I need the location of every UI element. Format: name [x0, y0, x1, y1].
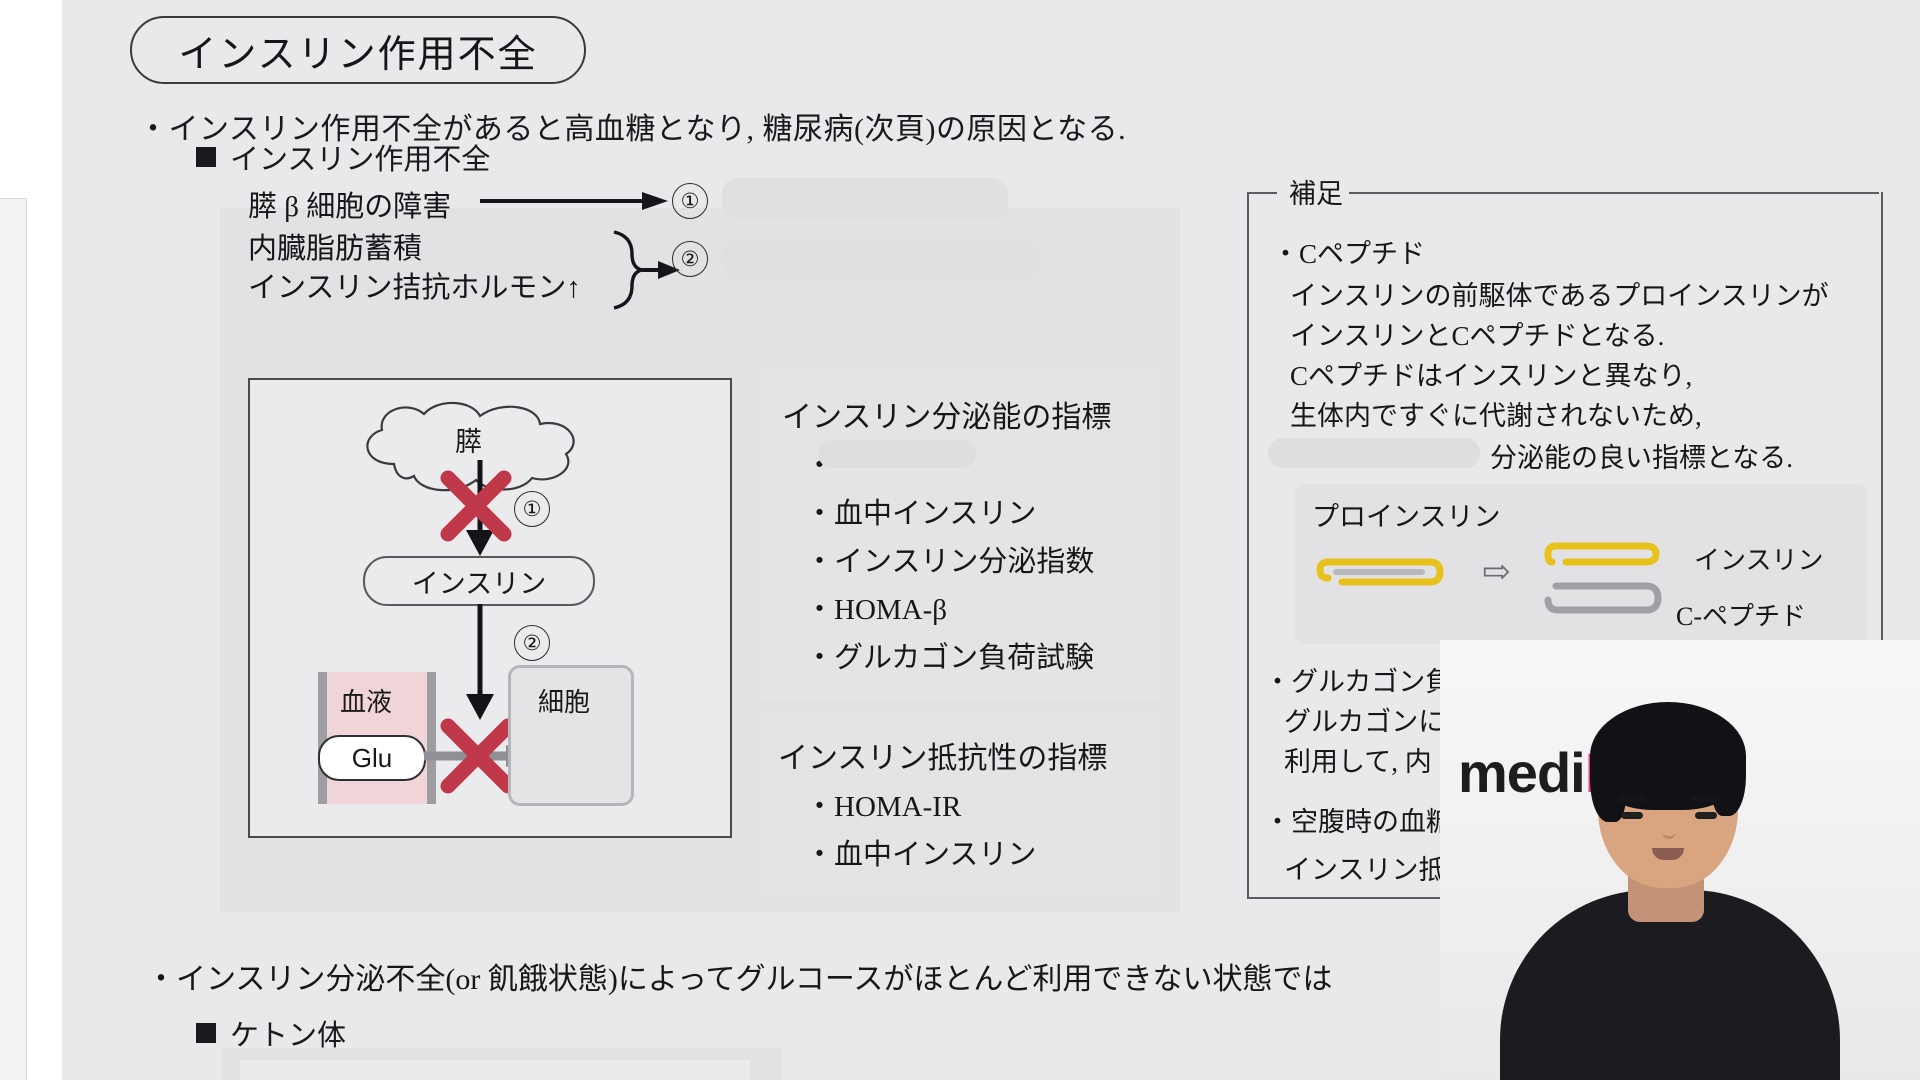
cpeptide-product-label: C-ペプチド: [1676, 596, 1806, 633]
insulin-product-label: インスリン: [1694, 540, 1823, 577]
supplement-line-1: インスリンの前駆体であるプロインスリンが: [1290, 274, 1829, 313]
block-x-2-icon: [440, 718, 516, 794]
bullet-square-icon-2: [196, 1023, 216, 1043]
secretion-item-1: ・血中インスリン: [805, 490, 1036, 532]
brand-logo-prefix: medi: [1458, 741, 1585, 804]
cpeptide-shape-icon: [1546, 578, 1666, 622]
resistance-item-0: ・HOMA-IR: [805, 783, 961, 825]
supplement-panel-top-right-rule: [1348, 192, 1879, 194]
cell-label: 細胞: [538, 682, 590, 719]
diagram-marker-1: ①: [514, 491, 550, 527]
supplement-lower-line-3: ・空腹時の血糖: [1264, 800, 1453, 839]
presenter-nose: [1662, 818, 1676, 839]
secretion-item-4: ・グルカゴン負荷試験: [805, 634, 1094, 676]
presenter-hair-left: [1590, 736, 1626, 822]
presenter-brow-right: [1692, 796, 1720, 802]
supplement-lower-line-4: インスリン抵: [1284, 848, 1445, 887]
redacted-secretion-item: [818, 440, 976, 468]
presenter-eye-left: [1621, 812, 1643, 819]
flow-marker-2: ②: [672, 241, 708, 277]
bottom-paragraph: ・インスリン分泌不全(or 飢餓状態)によってグルコースがほとんど利用できない状…: [146, 954, 1332, 998]
blood-label: 血液: [340, 682, 392, 719]
supplement-line-5: 分泌能の良い指標となる.: [1490, 436, 1793, 475]
pancreas-label: 膵: [455, 420, 482, 459]
supplement-line-4: 生体内ですぐに代謝されないため,: [1290, 394, 1702, 433]
flow-arrow-1-icon: [480, 188, 670, 214]
redacted-answer-1: [722, 178, 1008, 220]
slide-title-pill: インスリン作用不全: [130, 16, 586, 84]
presenter-eye-right: [1695, 812, 1717, 819]
flow-row2-label: 内臓脂肪蓄積: [248, 225, 422, 267]
insulin-node-label: インスリン: [412, 562, 546, 601]
supplement-line-3: Cペプチドはインスリンと異なり,: [1290, 354, 1692, 393]
secretion-indicator-title: インスリン分泌能の指標: [782, 392, 1111, 436]
supplement-lower-line-0: ・グルカゴン負: [1264, 660, 1452, 699]
bullet-square-icon: [196, 147, 216, 167]
secretion-item-2: ・インスリン分泌指数: [805, 538, 1094, 580]
diagram-marker-2: ②: [514, 625, 550, 661]
page-left-tab: [0, 198, 27, 1080]
bottom-gray-panel-inner: [240, 1060, 750, 1080]
secretion-item-3: ・HOMA-β: [805, 586, 947, 628]
conversion-arrow-icon: ⇨: [1482, 552, 1511, 592]
presenter-hair-right: [1712, 736, 1746, 816]
supplement-lower-line-2: 利用して, 内: [1284, 740, 1432, 779]
slide-title: インスリン作用不全: [178, 23, 537, 78]
flow-marker-1: ①: [672, 183, 708, 219]
redacted-supplement-text: [1268, 438, 1480, 468]
insulin-arrow-down-2-icon: [462, 604, 502, 724]
block-x-1-icon: [440, 470, 512, 542]
proinsulin-shape-icon: [1318, 548, 1448, 598]
insulin-shape-icon: [1546, 534, 1666, 578]
section-heading: インスリン作用不全: [196, 136, 490, 178]
supplement-line-2: インスリンとCペプチドとなる.: [1290, 314, 1664, 353]
flow-row1-label: 膵 β 細胞の障害: [248, 183, 451, 225]
glucose-node: Glu: [318, 735, 426, 781]
supplement-lower-line-1: グルカゴンに: [1284, 700, 1445, 739]
supplement-panel-top-left-rule: [1247, 192, 1277, 194]
webcam-overlay[interactable]: mediL: [1440, 640, 1920, 1080]
supplement-line-0: ・Cペプチド: [1272, 232, 1425, 271]
presenter-brow-left: [1618, 796, 1646, 802]
redacted-answer-2: [722, 238, 1040, 280]
section-heading-label: インスリン作用不全: [230, 136, 490, 178]
resistance-indicator-title: インスリン抵抗性の指標: [778, 733, 1107, 777]
resistance-item-1: ・血中インスリン: [805, 831, 1036, 873]
slide-root: インスリン作用不全 ・インスリン作用不全があると高血糖となり, 糖尿病(次頁)の…: [0, 0, 1920, 1080]
supplement-legend: 補足: [1283, 172, 1349, 211]
proinsulin-label: プロインスリン: [1312, 495, 1500, 534]
glucose-label: Glu: [352, 743, 392, 774]
flow-row3-label: インスリン拮抗ホルモン↑: [248, 264, 581, 306]
insulin-node: インスリン: [363, 556, 595, 606]
